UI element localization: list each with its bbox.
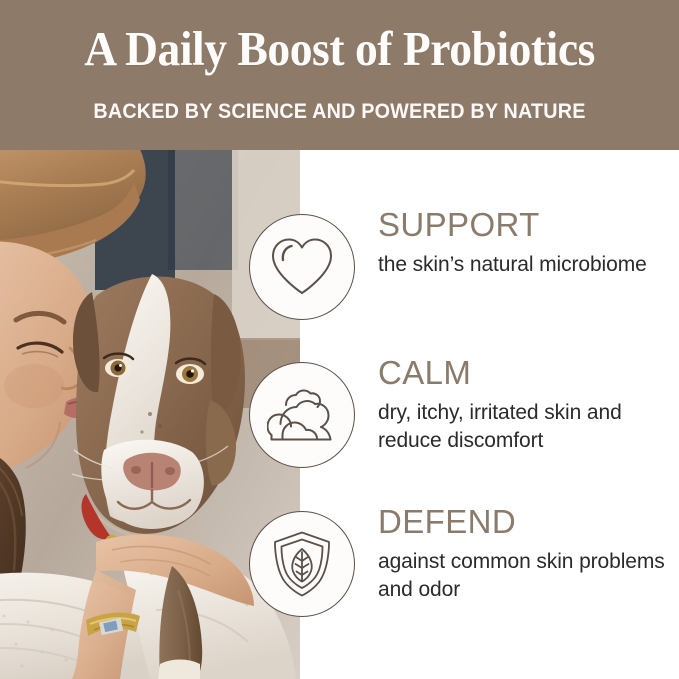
probiotics-infographic: A Daily Boost of Probiotics BACKED BY SC…: [0, 0, 679, 679]
page-title: A Daily Boost of Probiotics: [84, 24, 595, 73]
feature-text-support: SUPPORT the skin’s natural microbiome: [378, 208, 668, 279]
feature-calm: CALM dry, itchy, irritated skin and redu…: [0, 348, 679, 488]
page-subtitle: BACKED BY SCIENCE AND POWERED BY NATURE: [93, 101, 585, 123]
feature-heading-support: SUPPORT: [378, 208, 668, 243]
feature-heading-calm: CALM: [378, 356, 668, 391]
header-band: A Daily Boost of Probiotics BACKED BY SC…: [0, 0, 679, 150]
feature-description-calm: dry, itchy, irritated skin and reduce di…: [378, 399, 668, 455]
feature-text-calm: CALM dry, itchy, irritated skin and redu…: [378, 356, 668, 454]
feature-support: SUPPORT the skin’s natural microbiome: [0, 200, 679, 340]
feature-description-defend: against common skin problems and odor: [378, 548, 668, 604]
heart-icon: [269, 236, 335, 298]
shield-leaf-icon-badge: [249, 511, 355, 617]
feature-heading-defend: DEFEND: [378, 505, 668, 540]
cloud-icon-badge: [249, 362, 355, 468]
shield-leaf-icon: [271, 530, 333, 598]
feature-text-defend: DEFEND against common skin problems and …: [378, 505, 668, 603]
feature-description-support: the skin’s natural microbiome: [378, 251, 668, 279]
cloud-icon: [267, 386, 337, 444]
feature-defend: DEFEND against common skin problems and …: [0, 497, 679, 637]
heart-icon-badge: [249, 214, 355, 320]
